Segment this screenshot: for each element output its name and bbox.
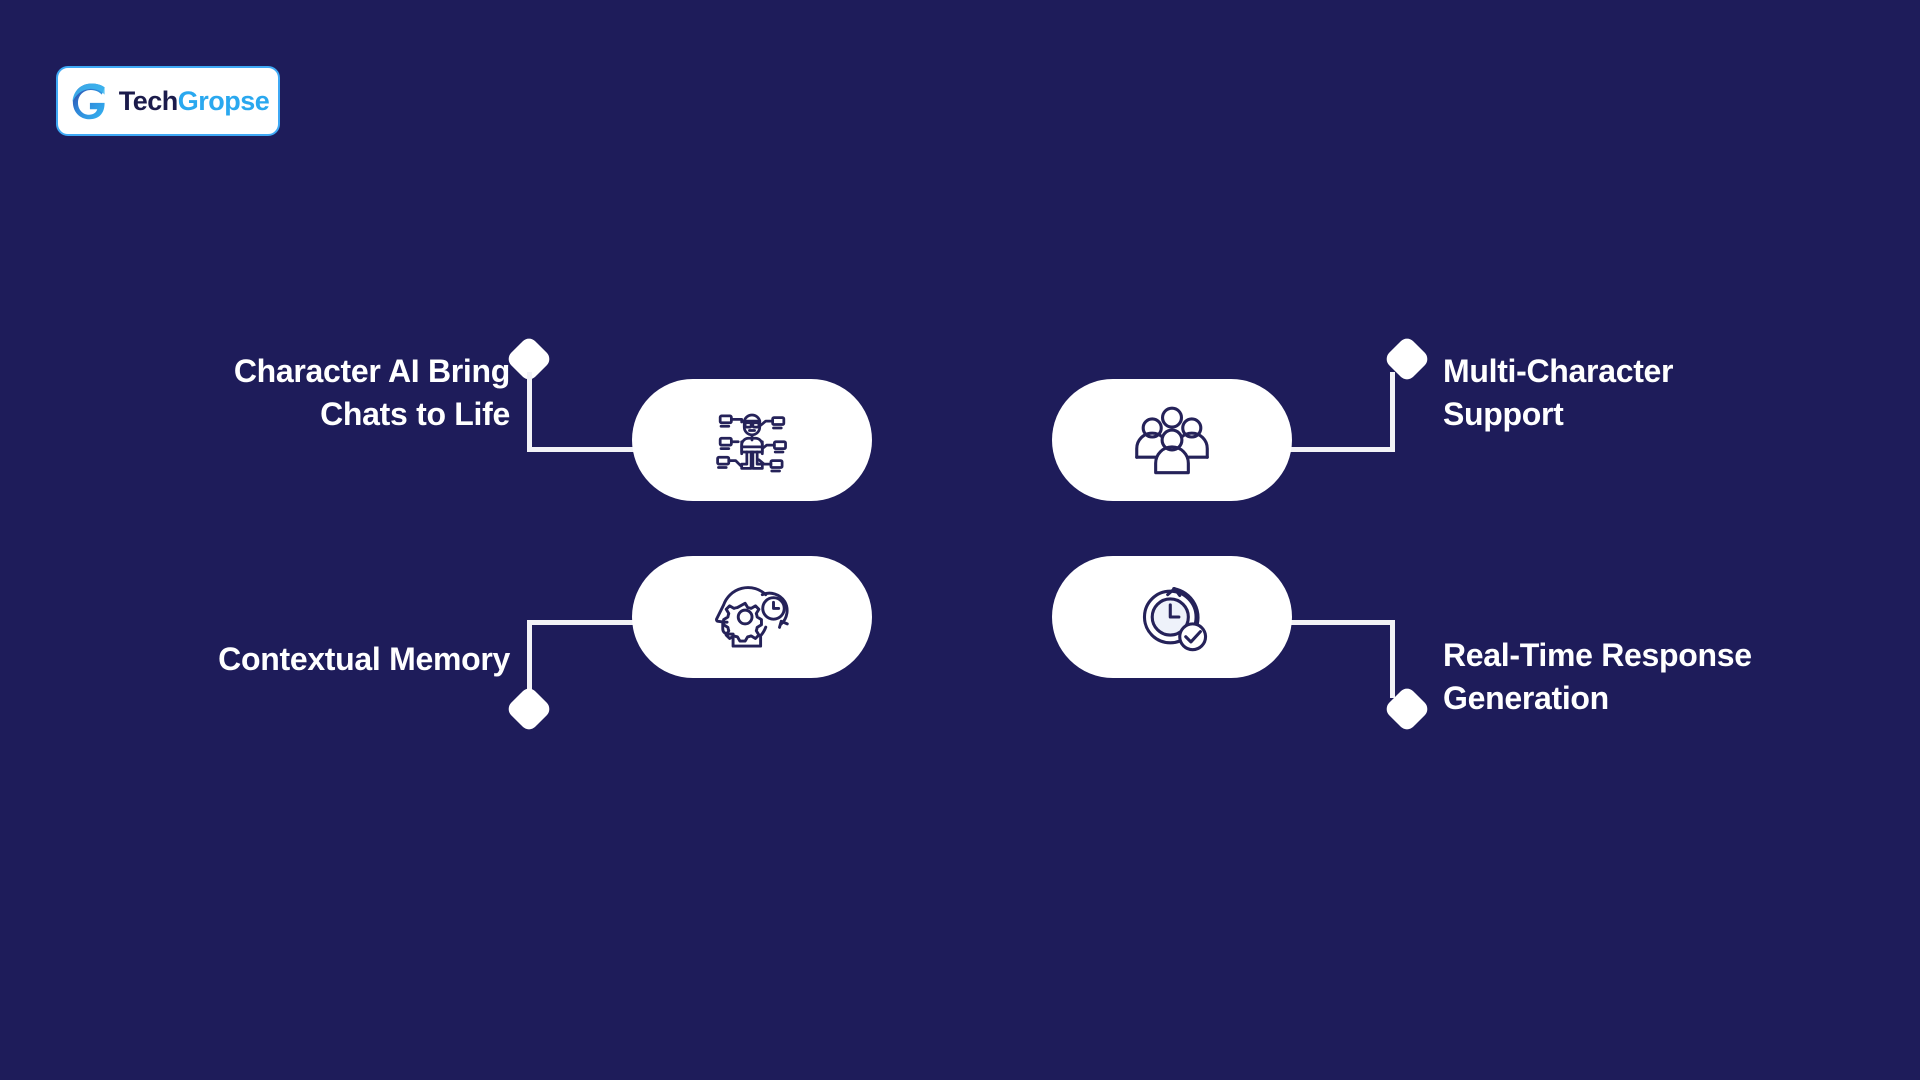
feature-capsule-character-ai[interactable]: [632, 379, 872, 501]
feature-capsule-contextual-memory[interactable]: [632, 556, 872, 678]
feature-capsule-multi-character[interactable]: [1052, 379, 1292, 501]
connector-node-bottom-left: [505, 685, 553, 733]
group-people-icon: [1129, 397, 1215, 483]
robot-character-network-icon: [709, 397, 795, 483]
clock-refresh-check-icon: [1129, 574, 1215, 660]
head-gear-clock-icon: [709, 574, 795, 660]
connector-line-top-right-vertical: [1390, 372, 1395, 452]
connector-line-bottom-right-vertical: [1390, 620, 1395, 698]
connector-line-bottom-left-horizontal: [527, 620, 647, 625]
connector-line-top-left-vertical: [527, 372, 532, 450]
connector-line-top-left-horizontal: [527, 447, 647, 452]
feature-label-multi-character-support: Multi-Character Support: [1443, 350, 1913, 435]
connector-line-top-right-horizontal: [1278, 447, 1395, 452]
connector-line-bottom-right-horizontal: [1278, 620, 1395, 625]
feature-capsule-real-time-response[interactable]: [1052, 556, 1292, 678]
feature-label-real-time-response: Real-Time Response Generation: [1443, 634, 1913, 719]
feature-label-contextual-memory: Contextual Memory: [70, 638, 510, 681]
connector-line-bottom-left-vertical: [527, 620, 532, 698]
feature-label-character-ai: Character AI Bring Chats to Life: [70, 350, 510, 435]
feature-diagram: Character AI Bring Chats to Life Multi-C…: [0, 0, 1920, 1080]
